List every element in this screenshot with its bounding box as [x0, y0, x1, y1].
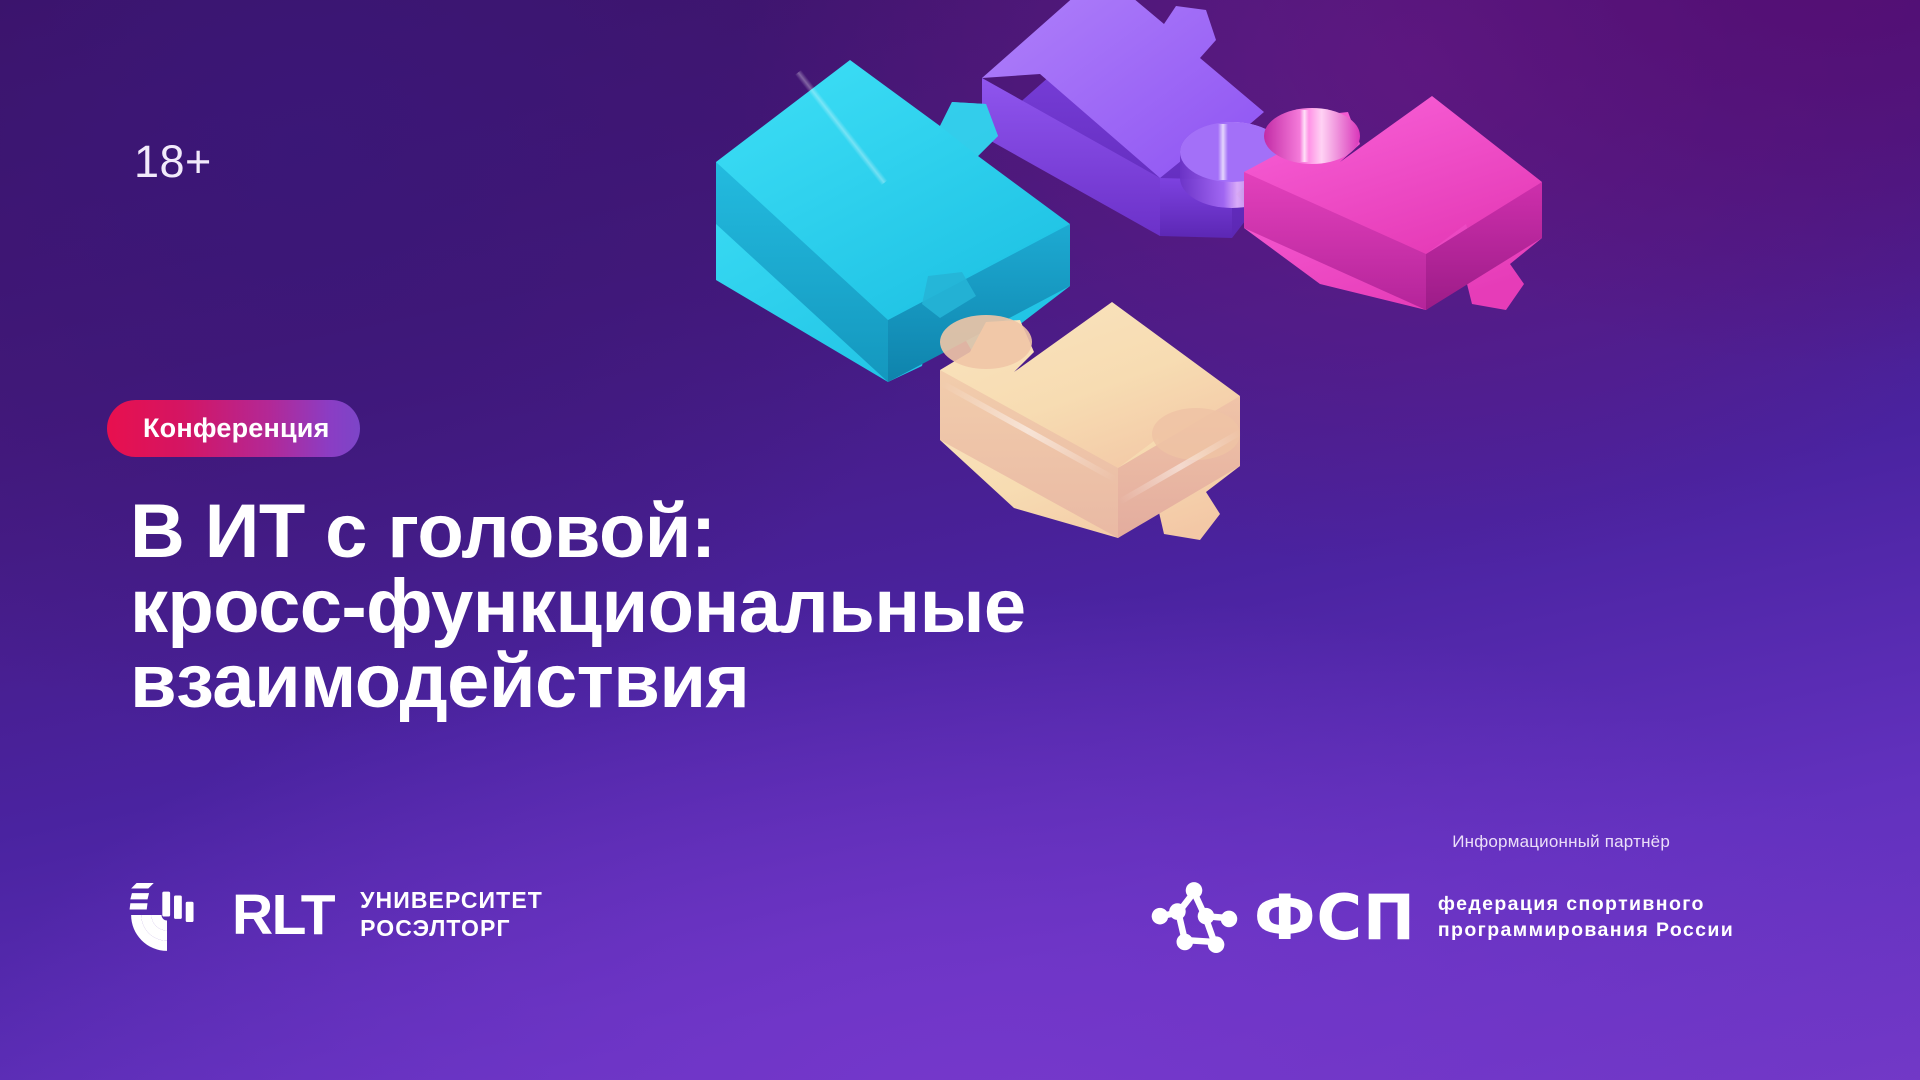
headline-line-2: кросс-функциональные: [130, 570, 1310, 645]
headline-line-1: В ИТ с головой:: [130, 495, 1310, 570]
conference-badge-label: Конференция: [143, 413, 330, 444]
partner-label: Информационный партнёр: [1388, 832, 1734, 852]
fsp-node-network-icon: [1148, 872, 1240, 964]
fsp-tagline: федерация спортивного программирования Р…: [1438, 892, 1734, 944]
fsp-wordmark: ФСП: [1254, 887, 1416, 949]
conference-badge: Конференция: [107, 400, 360, 457]
rlt-wordmark: RLT: [232, 887, 334, 944]
fsp-tagline-line-1: федерация спортивного: [1438, 892, 1734, 918]
puzzle-piece-pink: [1244, 96, 1542, 310]
age-rating: 18+: [134, 139, 212, 184]
promo-banner: 18+ Конференция В ИТ с головой: кросс-фу…: [0, 0, 1920, 1080]
rlt-subtitle-line-2: РОСЭЛТОРГ: [360, 915, 543, 943]
fsp-tagline-line-2: программирования России: [1438, 918, 1734, 944]
organizer-lockup: RLT УНИВЕРСИТЕТ РОСЭЛТОРГ: [128, 876, 543, 954]
partner-lockup: ФСП федерация спортивного программирован…: [1148, 872, 1734, 964]
event-headline: В ИТ с головой: кросс-функциональные вза…: [130, 495, 1310, 720]
rlt-circular-arcs-icon: [128, 876, 206, 954]
rlt-subtitle: УНИВЕРСИТЕТ РОСЭЛТОРГ: [360, 887, 543, 942]
partner-block: Информационный партнёр: [1148, 832, 1734, 964]
rlt-subtitle-line-1: УНИВЕРСИТЕТ: [360, 887, 543, 915]
headline-line-3: взаимодействия: [130, 645, 1310, 720]
